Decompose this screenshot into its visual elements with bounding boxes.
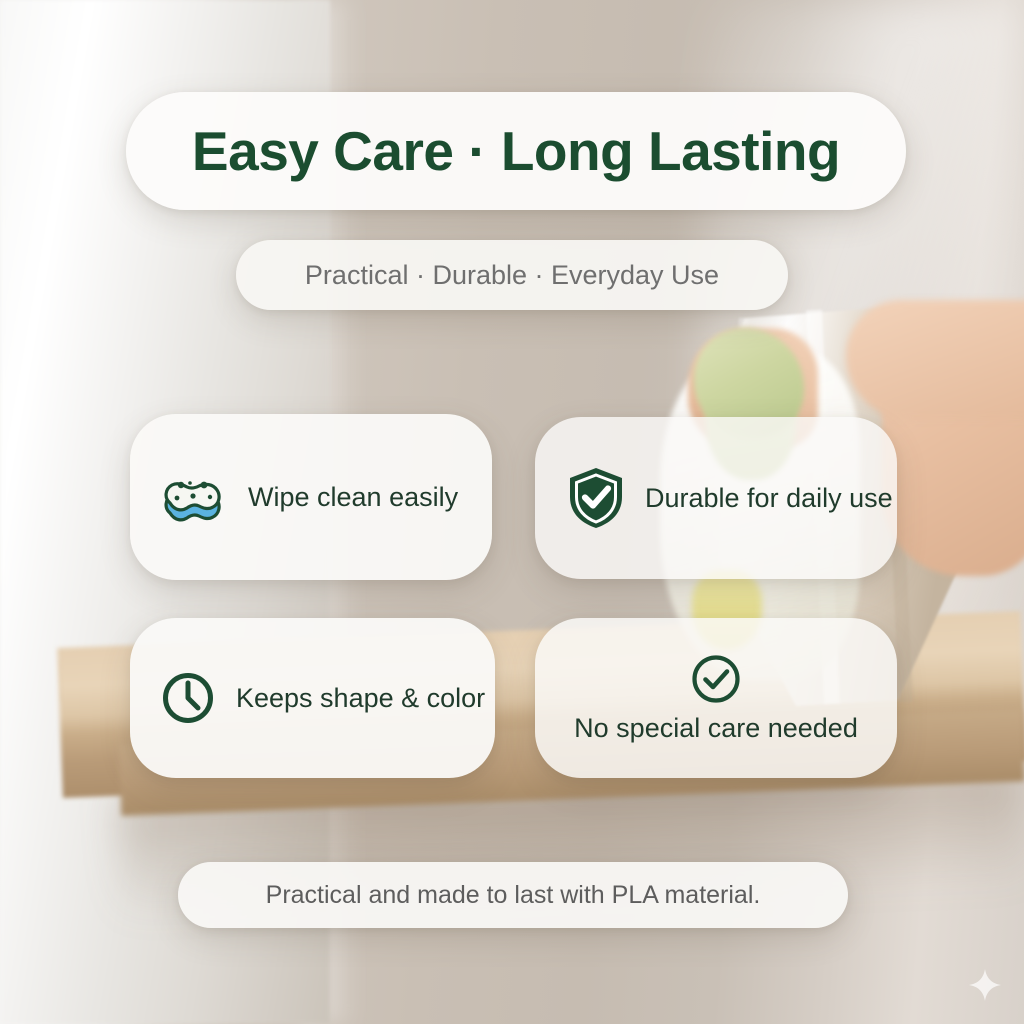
- footer-caption: Practical and made to last with PLA mate…: [266, 881, 761, 910]
- page-subtitle: Practical · Durable · Everyday Use: [305, 260, 719, 291]
- feature-card-no-special-care: No special care needed: [535, 618, 897, 778]
- clock-icon: [160, 670, 216, 726]
- feature-card-durable: Durable for daily use: [535, 417, 897, 579]
- shield-check-icon: [567, 466, 625, 530]
- sparkle-icon: [968, 968, 1002, 1002]
- page-title: Easy Care · Long Lasting: [192, 119, 840, 183]
- check-circle-icon: [690, 653, 742, 705]
- footer-pill: Practical and made to last with PLA mate…: [178, 862, 848, 928]
- feature-label: No special care needed: [574, 713, 858, 744]
- feature-card-wipe-clean: Wipe clean easily: [130, 414, 492, 580]
- promo-graphic: Easy Care · Long Lasting Practical · Dur…: [0, 0, 1024, 1024]
- hand-fingers-top: [846, 300, 1024, 420]
- feature-label: Wipe clean easily: [248, 482, 458, 513]
- feature-label: Keeps shape & color: [236, 683, 485, 714]
- subtitle-pill: Practical · Durable · Everyday Use: [236, 240, 788, 310]
- title-pill: Easy Care · Long Lasting: [126, 92, 906, 210]
- feature-card-keeps-shape: Keeps shape & color: [130, 618, 495, 778]
- sponge-icon: [160, 469, 226, 525]
- feature-label: Durable for daily use: [645, 483, 893, 514]
